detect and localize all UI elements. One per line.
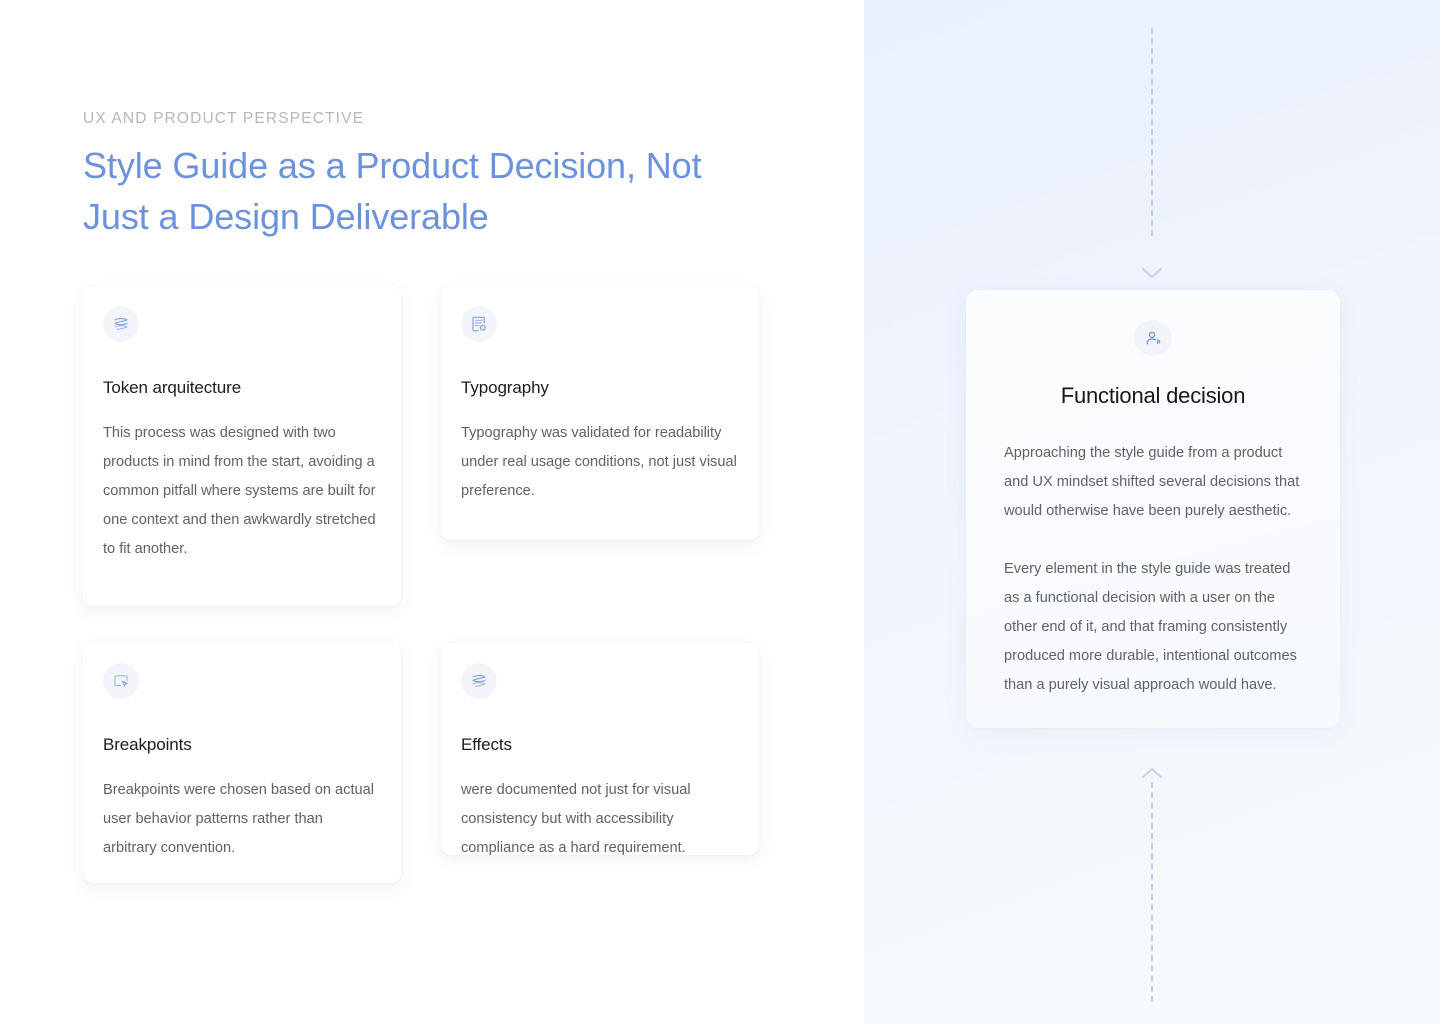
card-body: This process was designed with two produ…: [103, 419, 379, 564]
feature-card-title: Functional decision: [1061, 383, 1246, 409]
section-eyebrow: UX AND PRODUCT PERSPECTIVE: [83, 110, 364, 128]
page-title: Style Guide as a Product Decision, Not J…: [83, 140, 773, 242]
chevron-down-icon: [1141, 266, 1163, 280]
monitor-cursor-icon: [103, 663, 139, 699]
dashed-line-top: [1151, 28, 1153, 236]
feature-paragraph-1: Approaching the style guide from a produ…: [1004, 439, 1302, 526]
waves-icon: [103, 306, 139, 342]
feature-paragraph-2: Every element in the style guide was tre…: [1004, 555, 1302, 700]
card-title: Token arquitecture: [103, 378, 379, 398]
card-body: Typography was validated for readability…: [461, 419, 737, 506]
connector-bottom: [1151, 766, 1153, 1002]
feature-card-functional-decision[interactable]: Functional decision Approaching the styl…: [966, 290, 1340, 728]
card-body: Breakpoints were chosen based on actual …: [103, 776, 379, 863]
card-breakpoints[interactable]: Breakpoints Breakpoints were chosen base…: [83, 643, 401, 883]
dashed-line-bottom: [1151, 782, 1153, 1002]
card-token-arquitecture[interactable]: Token arquitecture This process was desi…: [83, 286, 401, 606]
page-root: UX AND PRODUCT PERSPECTIVE Style Guide a…: [0, 0, 1440, 1024]
feature-card-body: Approaching the style guide from a produ…: [986, 439, 1320, 700]
card-title: Breakpoints: [103, 735, 379, 755]
card-body: were documented not just for visual cons…: [461, 776, 737, 863]
chevron-up-icon: [1141, 766, 1163, 780]
left-content: UX AND PRODUCT PERSPECTIVE Style Guide a…: [0, 0, 864, 1024]
document-settings-icon: [461, 306, 497, 342]
waves-icon: [461, 663, 497, 699]
card-title: Effects: [461, 735, 737, 755]
card-typography[interactable]: Typography Typography was validated for …: [441, 286, 759, 540]
connector-top: [1151, 28, 1153, 256]
card-title: Typography: [461, 378, 737, 398]
card-effects[interactable]: Effects were documented not just for vis…: [441, 643, 759, 855]
user-voice-icon: [1134, 320, 1172, 356]
